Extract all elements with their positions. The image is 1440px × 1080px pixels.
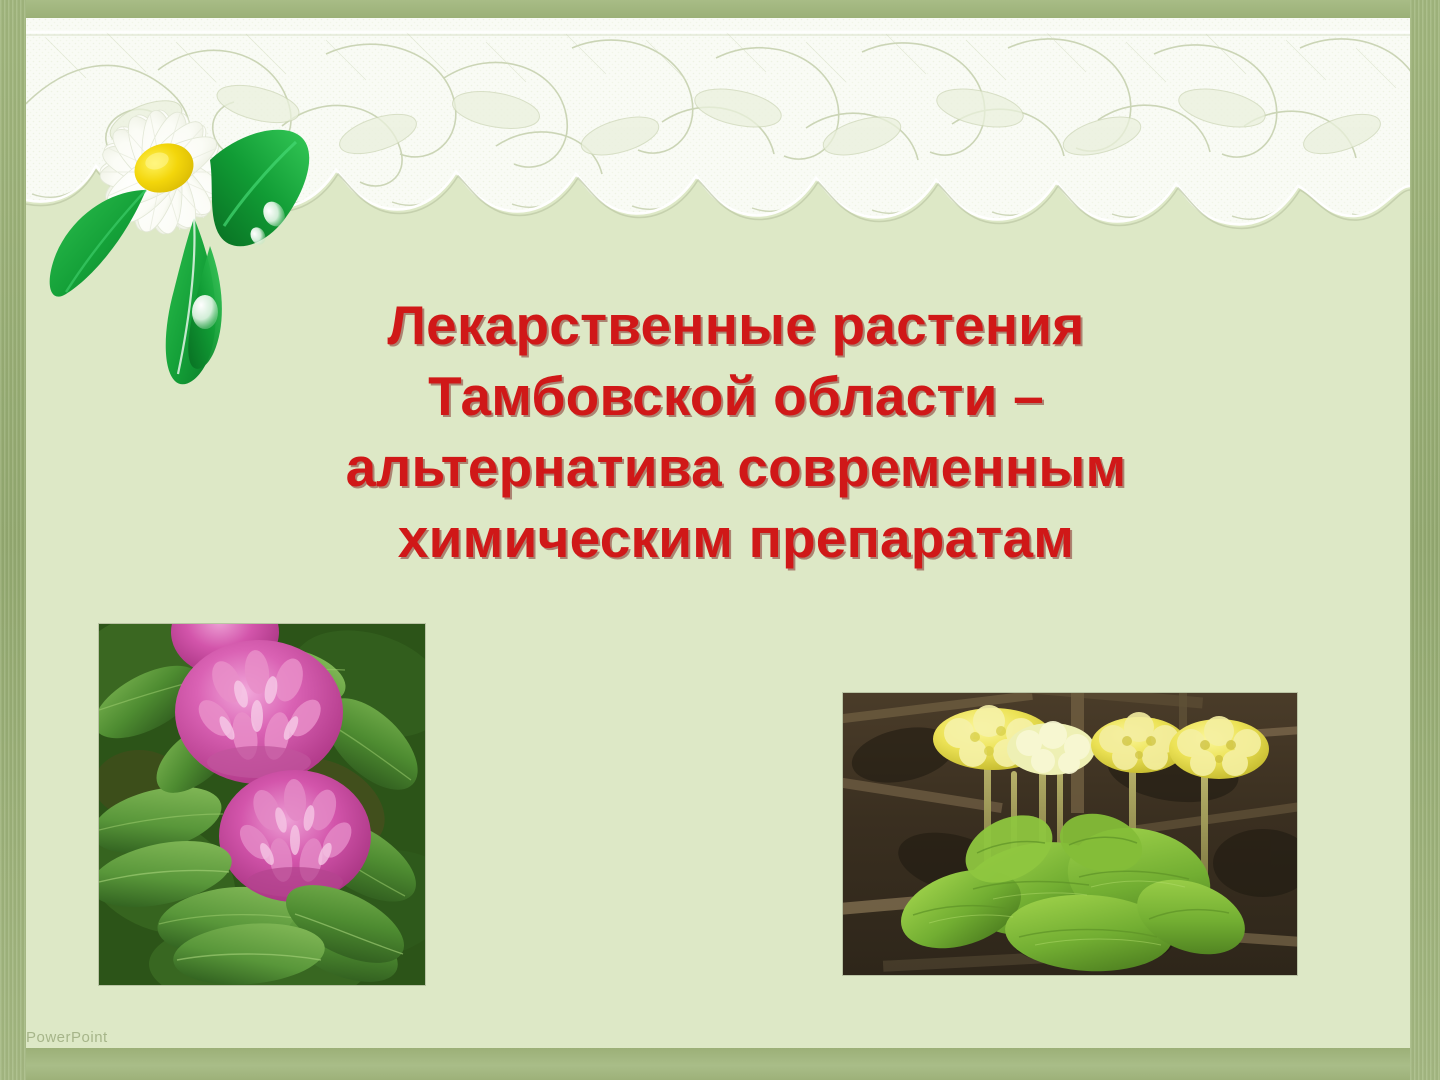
cowslip-photo [843,693,1297,975]
presentation-slide: Лекарственные растения Тамбовской област… [0,0,1440,1080]
slide-canvas: Лекарственные растения Тамбовской област… [26,18,1410,1048]
watermark-text: PowerPoint [26,1029,108,1046]
slide-border-top [0,0,1440,18]
slide-border-left [0,0,26,1080]
clover-photo [99,624,425,985]
slide-title: Лекарственные растения Тамбовской област… [276,290,1196,574]
slide-border-bottom [0,1048,1440,1080]
slide-border-right [1410,0,1440,1080]
